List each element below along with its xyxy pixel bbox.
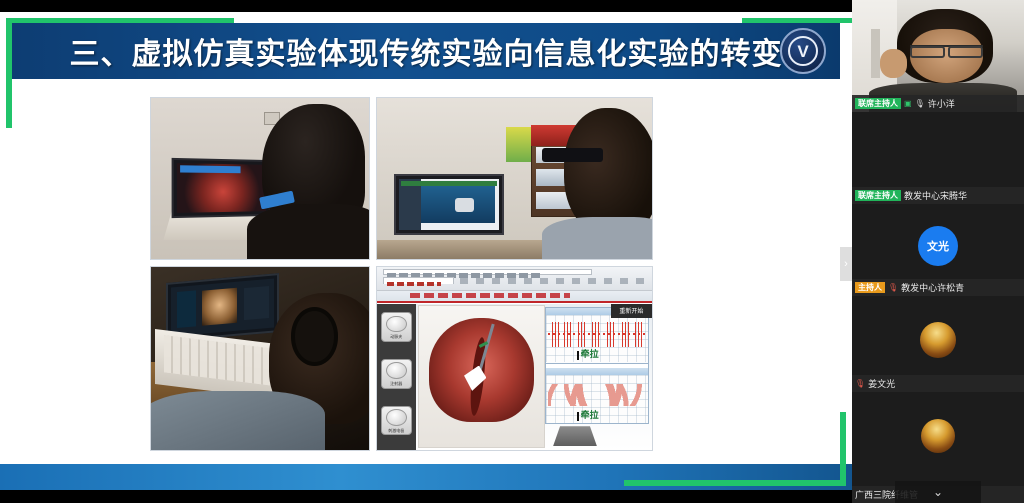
student-headphones-photo-3 bbox=[150, 266, 370, 451]
avatar bbox=[920, 322, 956, 358]
meeting-window: 三、虚拟仿真实验体现传统实验向信息化实验的转变 V bbox=[0, 0, 1024, 503]
waveform-chart-tension: 牵拉 bbox=[546, 368, 649, 423]
accent-bar-bottom-right bbox=[624, 480, 846, 486]
participant-name: 姜文光 bbox=[868, 377, 895, 390]
participant-tile-xu-xiaoyang[interactable]: 联席主持人 ▣ 🎙 许小洋 bbox=[852, 0, 1024, 112]
tool-button-artery-clamp: 动脉夹 bbox=[381, 312, 412, 341]
collapse-panel-chevron-right-icon[interactable]: › bbox=[840, 247, 852, 281]
avatar bbox=[921, 137, 955, 171]
mic-muted-icon: 🎙 bbox=[888, 284, 898, 292]
photo-grid: 动脉夹 注射器 刺激电极 bbox=[150, 97, 653, 452]
tool-button-electrode: 刺激电极 bbox=[381, 406, 412, 435]
participant-tile-jiang-wenguang[interactable]: 🎙 姜文光 bbox=[852, 296, 1024, 392]
shared-screen-area: 三、虚拟仿真实验体现传统实验向信息化实验的转变 V bbox=[0, 0, 852, 503]
restart-button[interactable]: 重新开始 bbox=[611, 304, 652, 319]
simulation-waveform-panel: 牵拉 牵拉 bbox=[545, 307, 650, 424]
waveform-label-traction-2: 牵拉 bbox=[581, 408, 599, 421]
simulation-tool-panel: 动脉夹 注射器 刺激电极 bbox=[377, 304, 416, 450]
emblem-monogram: V bbox=[788, 36, 818, 66]
browser-tab bbox=[383, 277, 455, 284]
simulation-software-screenshot: 动脉夹 注射器 刺激电极 bbox=[376, 266, 653, 451]
participant-rail[interactable]: 联席主持人 ▣ 🎙 许小洋 联席主持人 教发中心宋腾华 文光 主持人 🎙 教发中… bbox=[852, 0, 1024, 503]
avatar: 文光 bbox=[918, 226, 958, 266]
participant-name: 教发中心许松青 bbox=[901, 281, 964, 294]
simulation-anatomy-view bbox=[418, 305, 545, 448]
participant-name-bar: 联席主持人 ▣ 🎙 许小洋 bbox=[852, 95, 1024, 112]
screen-share-icon: ▣ bbox=[904, 100, 912, 108]
participant-tile-song-tenghua[interactable]: 联席主持人 教发中心宋腾华 bbox=[852, 112, 1024, 204]
participant-name-bar: 🎙 姜文光 bbox=[852, 375, 1024, 392]
rail-scroll-down-chevron-icon[interactable]: ⌄ bbox=[895, 481, 981, 503]
participant-name-bar: 联席主持人 教发中心宋腾华 bbox=[852, 187, 1024, 204]
participant-tile-xu-songqing[interactable]: 文光 主持人 🎙 教发中心许松青 bbox=[852, 204, 1024, 296]
participant-name: 许小洋 bbox=[928, 97, 955, 110]
participant-name-bar: 主持人 🎙 教发中心许松青 bbox=[852, 279, 1024, 296]
tool-button-syringe: 注射器 bbox=[381, 359, 412, 388]
role-badge-co-host: 联席主持人 bbox=[855, 190, 901, 201]
avatar bbox=[921, 419, 955, 453]
slide-footer-bar bbox=[0, 464, 852, 490]
software-header-bar bbox=[377, 291, 652, 303]
slide-title: 三、虚拟仿真实验体现传统实验向信息化实验的转变 bbox=[70, 29, 783, 73]
role-badge-co-host: 联席主持人 bbox=[855, 98, 901, 109]
student-laptop-photo-1 bbox=[150, 97, 370, 260]
waveform-label-traction-1: 牵拉 bbox=[581, 347, 599, 360]
accent-bar-right bbox=[840, 412, 846, 486]
role-badge-host: 主持人 bbox=[855, 282, 885, 293]
university-emblem-icon: V bbox=[780, 28, 826, 74]
slide-title-bar: 三、虚拟仿真实验体现传统实验向信息化实验的转变 V bbox=[12, 23, 840, 79]
mic-icon: 🎙 bbox=[915, 100, 925, 108]
browser-toolbar bbox=[460, 278, 647, 284]
presentation-slide: 三、虚拟仿真实验体现传统实验向信息化实验的转变 V bbox=[0, 12, 852, 490]
student-monitor-photo-2 bbox=[376, 97, 653, 260]
participant-name: 教发中心宋腾华 bbox=[904, 189, 967, 202]
mic-muted-icon: 🎙 bbox=[855, 380, 865, 388]
browser-address-bar bbox=[383, 269, 592, 275]
